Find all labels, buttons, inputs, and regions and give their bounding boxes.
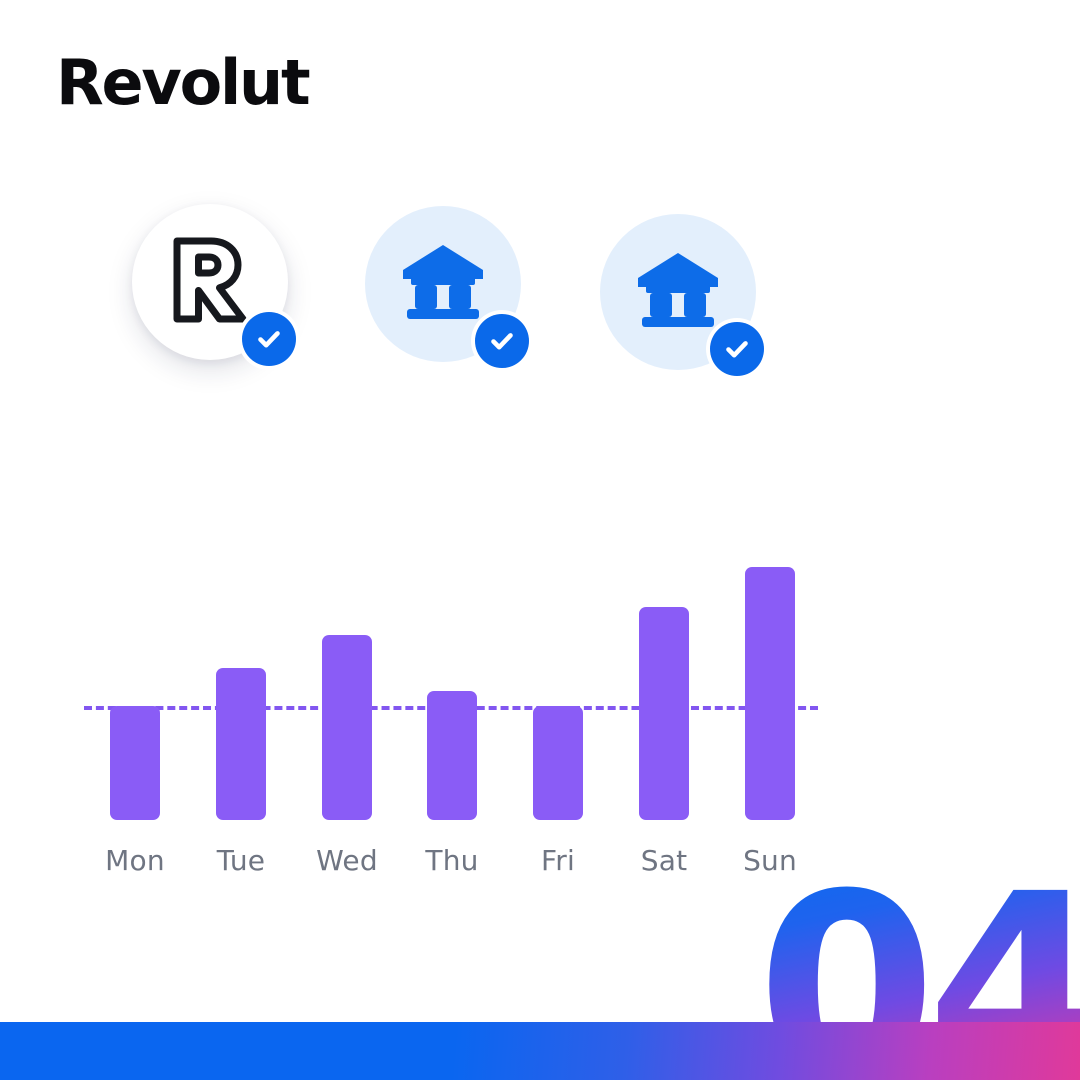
- chart-bar[interactable]: [427, 691, 477, 820]
- chart-x-tick-label: Fri: [505, 844, 611, 877]
- chart-x-tick-label: Tue: [188, 844, 294, 877]
- chart-bar[interactable]: [110, 706, 160, 820]
- slide-canvas: Revolut: [0, 0, 1080, 1080]
- chart-bar[interactable]: [533, 706, 583, 820]
- chart-bar[interactable]: [322, 635, 372, 820]
- chart-x-tick-label: Wed: [294, 844, 400, 877]
- chart-bar[interactable]: [639, 607, 689, 820]
- chart-bar[interactable]: [216, 668, 266, 820]
- chart-plot-area: MonTueWedThuFriSatSun: [0, 0, 1080, 900]
- chart-x-tick-label: Mon: [82, 844, 188, 877]
- chart-bar[interactable]: [745, 567, 795, 820]
- chart-x-tick-label: Thu: [399, 844, 505, 877]
- chart-x-tick-label: Sat: [611, 844, 717, 877]
- footer-accent-bar: [0, 1022, 1080, 1080]
